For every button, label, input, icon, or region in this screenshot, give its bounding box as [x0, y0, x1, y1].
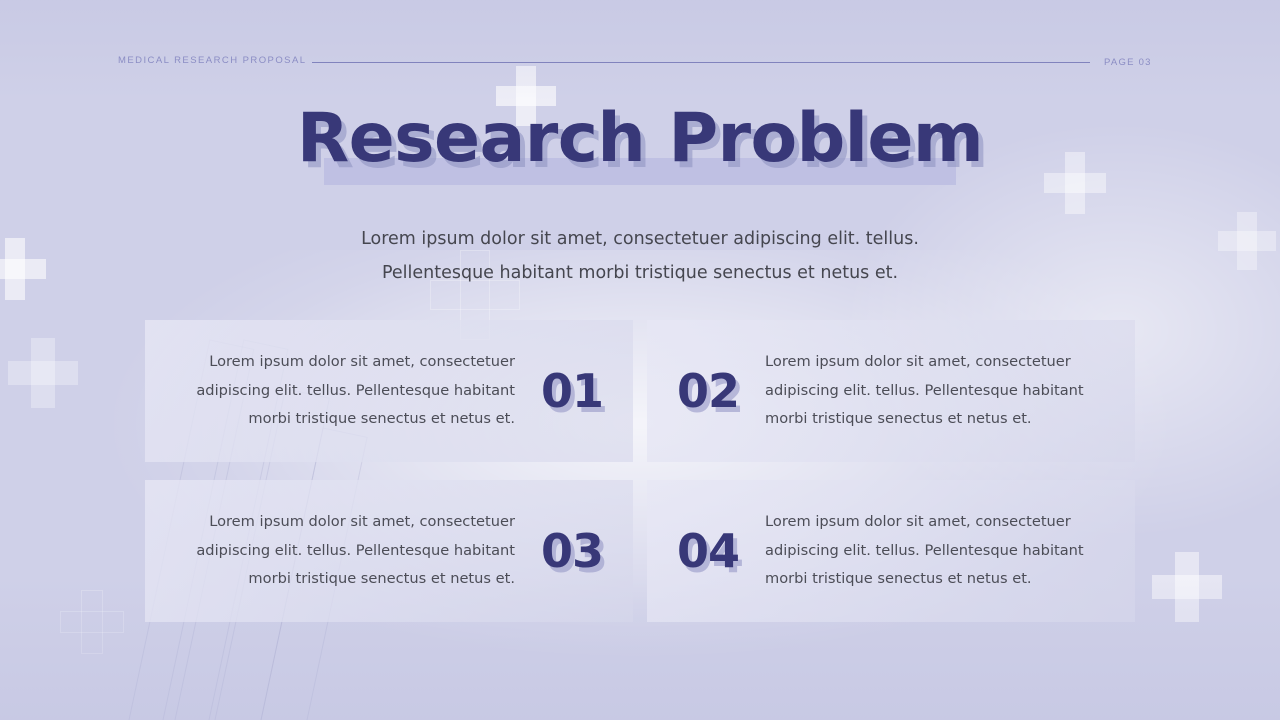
point-card-number: 04 [677, 528, 739, 574]
point-card-01[interactable]: Lorem ipsum dolor sit amet, consectetuer… [145, 320, 633, 462]
subtitle-line-1: Lorem ipsum dolor sit amet, consectetuer… [0, 222, 1280, 256]
deck-kicker-label: MEDICAL RESEARCH PROPOSAL [118, 55, 306, 66]
point-card-number: 03 [541, 528, 603, 574]
point-card-02[interactable]: 02 Lorem ipsum dolor sit amet, consectet… [647, 320, 1135, 462]
medical-cross-icon-outline-low [60, 590, 124, 654]
point-card-number: 02 [677, 368, 739, 414]
page-number-label: PAGE 03 [1104, 57, 1152, 68]
numbered-points-grid: Lorem ipsum dolor sit amet, consectetuer… [145, 320, 1135, 622]
point-card-text: Lorem ipsum dolor sit amet, consectetuer… [765, 348, 1105, 434]
medical-cross-icon-bottom-right [1152, 552, 1222, 622]
point-card-text: Lorem ipsum dolor sit amet, consectetuer… [175, 508, 515, 594]
point-card-text: Lorem ipsum dolor sit amet, consectetuer… [175, 348, 515, 434]
subtitle-block: Lorem ipsum dolor sit amet, consectetuer… [0, 222, 1280, 290]
medical-cross-icon-left-lower [8, 338, 78, 408]
page-title: Research Problem [297, 104, 983, 173]
point-card-text: Lorem ipsum dolor sit amet, consectetuer… [765, 508, 1105, 594]
point-card-number: 01 [541, 368, 603, 414]
header-divider-line [312, 62, 1090, 63]
point-card-03[interactable]: Lorem ipsum dolor sit amet, consectetuer… [145, 480, 633, 622]
title-block: Research Problem [0, 104, 1280, 173]
point-card-04[interactable]: 04 Lorem ipsum dolor sit amet, consectet… [647, 480, 1135, 622]
subtitle-line-2: Pellentesque habitant morbi tristique se… [0, 256, 1280, 290]
slide-canvas: MEDICAL RESEARCH PROPOSAL PAGE 03 Resear… [0, 0, 1280, 720]
